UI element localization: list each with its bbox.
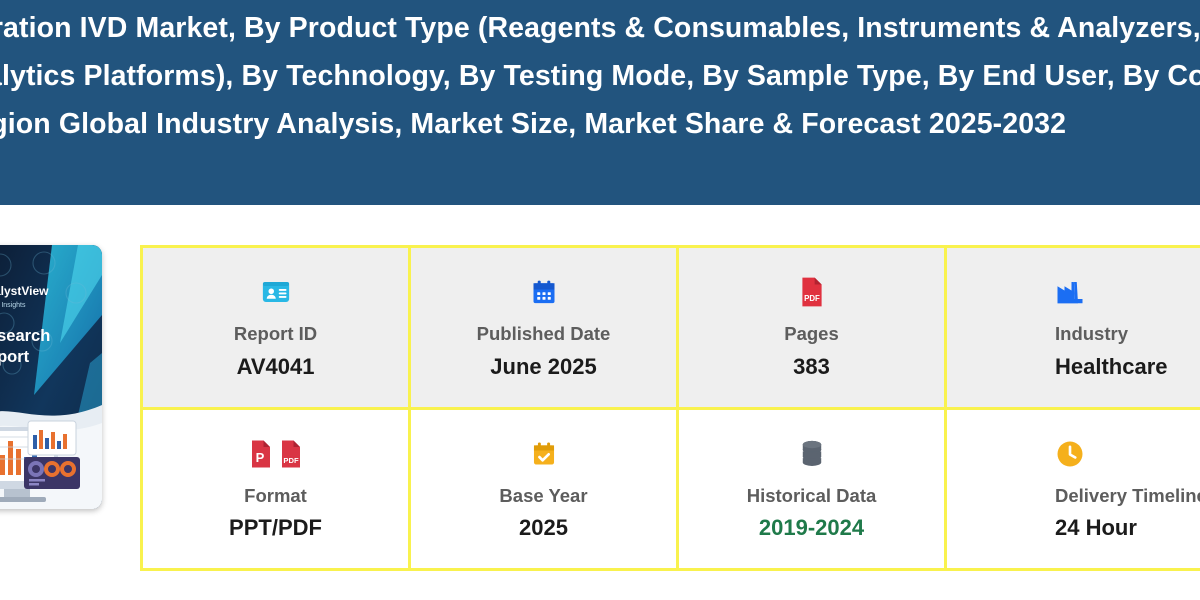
- meta-label: Delivery Timeline: [1055, 485, 1200, 506]
- meta-label: Industry: [1055, 323, 1128, 344]
- meta-value: AV4041: [237, 354, 315, 379]
- meta-cell-report-id: Report ID AV4041: [143, 248, 408, 407]
- meta-value: 2019-2024: [759, 515, 864, 540]
- meta-value: June 2025: [490, 354, 596, 379]
- meta-cell-industry: Industry Healthcare: [947, 248, 1200, 407]
- report-summary-page: Next Generation IVD Market, By Product T…: [0, 0, 1200, 600]
- meta-value: 24 Hour: [1055, 515, 1137, 540]
- meta-label: Historical Data: [747, 485, 877, 506]
- ppt-file-icon: P: [249, 439, 273, 469]
- meta-value: PPT/PDF: [229, 515, 322, 540]
- clock-icon: [1055, 437, 1085, 471]
- report-body: AnalystView Market Insights Research Rep…: [0, 205, 1200, 600]
- meta-cell-base-year: Base Year 2025: [411, 410, 676, 569]
- svg-text:PDF: PDF: [283, 456, 299, 465]
- meta-label: Format: [244, 485, 307, 506]
- calendar-icon: [530, 275, 558, 309]
- meta-label: Pages: [784, 323, 839, 344]
- page-header-band: Next Generation IVD Market, By Product T…: [0, 0, 1200, 205]
- meta-label: Published Date: [477, 323, 611, 344]
- calendar-check-icon: [530, 437, 558, 471]
- meta-label: Base Year: [499, 485, 587, 506]
- meta-cell-delivery-timeline: Delivery Timeline 24 Hour: [947, 410, 1200, 569]
- report-meta-grid: Report ID AV4041: [140, 245, 1200, 571]
- page-title: Next Generation IVD Market, By Product T…: [0, 4, 1200, 148]
- svg-text:AnalystView: AnalystView: [0, 284, 49, 298]
- ppt-pdf-files-icon: P PDF: [249, 437, 303, 471]
- meta-label: Report ID: [234, 323, 317, 344]
- meta-cell-published-date: Published Date June 2025: [411, 248, 676, 407]
- svg-text:PDF: PDF: [804, 294, 820, 303]
- meta-value: 383: [793, 354, 830, 379]
- meta-cell-pages: PDF Pages 383: [679, 248, 944, 407]
- report-cover-thumbnail[interactable]: AnalystView Market Insights Research Rep…: [0, 245, 102, 509]
- database-icon: [799, 437, 825, 471]
- svg-text:P: P: [255, 450, 264, 465]
- pdf-file-icon: PDF: [799, 275, 825, 309]
- pdf-file-icon: PDF: [279, 439, 303, 469]
- factory-icon: [1055, 275, 1085, 309]
- meta-cell-format: P PDF Format PPT/PDF: [143, 410, 408, 569]
- meta-cell-historical-data: Historical Data 2019-2024: [679, 410, 944, 569]
- report-cover-artwork: AnalystView Market Insights Research Rep…: [0, 245, 102, 509]
- svg-text:Research: Research: [0, 327, 50, 345]
- meta-value: Healthcare: [1055, 354, 1168, 379]
- svg-text:Market Insights: Market Insights: [0, 302, 26, 309]
- svg-text:Report: Report: [0, 348, 30, 366]
- meta-value: 2025: [519, 515, 568, 540]
- id-card-icon: [261, 275, 291, 309]
